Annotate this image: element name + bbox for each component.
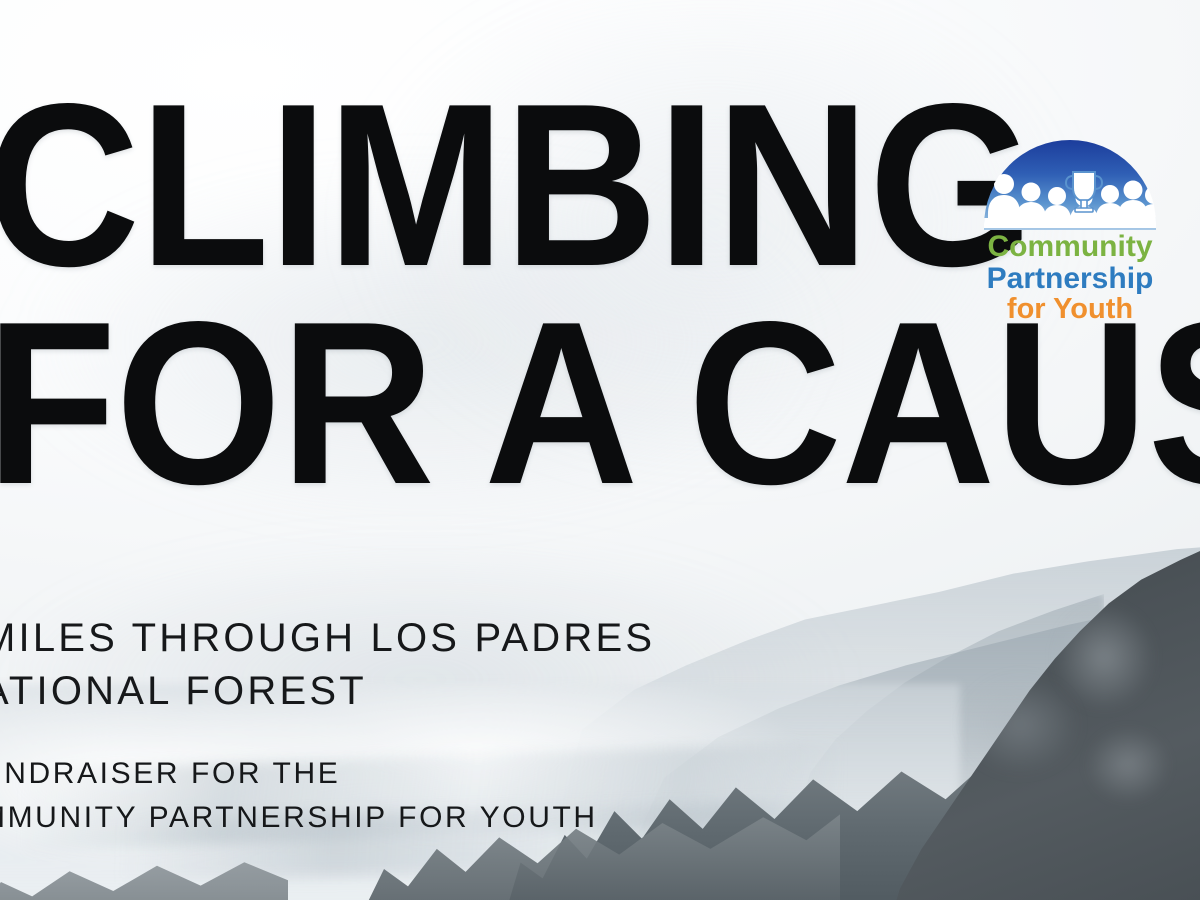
subtitle-line-1: MILES THROUGH LOS PADRES [0,612,962,665]
community-partnership-for-youth-logo: Community Partnership for Youth [972,96,1168,326]
headline-line-1: CLIMBING [0,86,1127,286]
tagline-line-1: UNDRAISER FOR THE [0,752,960,796]
logo-word-community: Community [988,230,1153,263]
poster-subtitle: MILES THROUGH LOS PADRES ATIONAL FOREST [0,612,962,718]
headline-line-2: FOR A CAUSE [0,304,1127,504]
poster-headline: CLIMBING FOR A CAUSE [0,86,1127,503]
tagline-line-2: MMUNITY PARTNERSHIP FOR YOUTH [0,796,960,840]
cliff-highlight-c [1068,720,1188,810]
poster-canvas: CLIMBING FOR A CAUSE MILES THROUGH LOS P… [0,0,1200,900]
logo-word-for-youth: for Youth [1007,293,1133,325]
logo-word-partnership: Partnership [987,262,1154,295]
logo-svg: Community Partnership for Youth [972,96,1168,326]
subtitle-line-2: ATIONAL FOREST [0,665,962,718]
poster-tagline: UNDRAISER FOR THE MMUNITY PARTNERSHIP FO… [0,752,960,839]
